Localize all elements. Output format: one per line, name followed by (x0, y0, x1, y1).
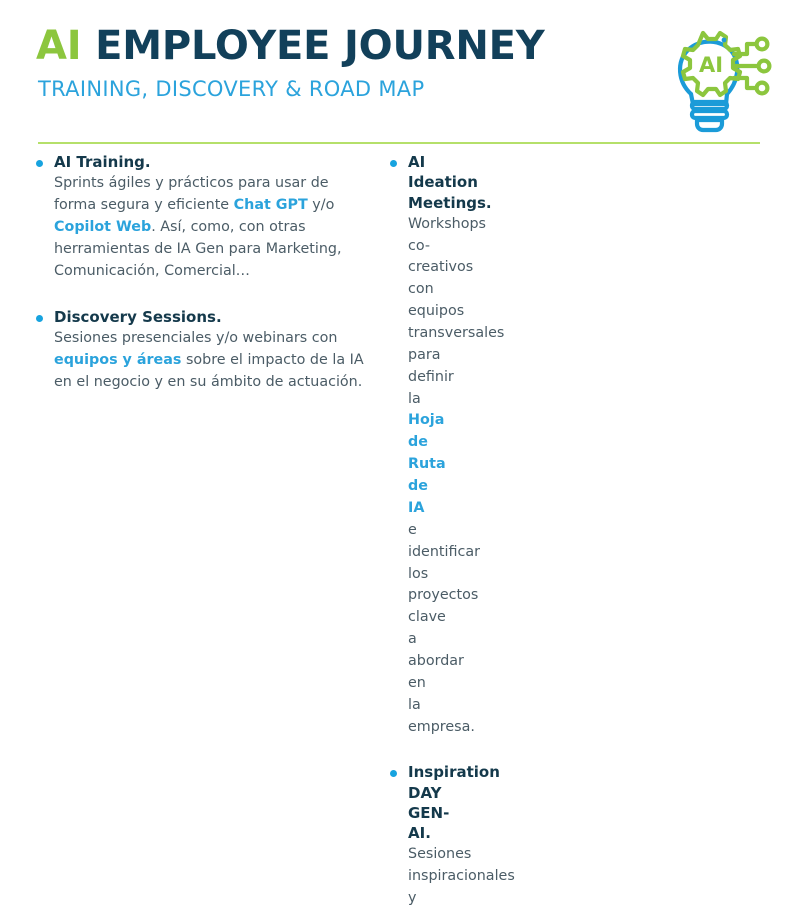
text-run: Workshops co-creativos con equipos trans… (408, 216, 504, 407)
column-right: AI Ideation Meetings. Workshops co-creat… (0, 152, 420, 912)
text-run: Sesiones inspiracionales y prácticas par… (408, 846, 515, 912)
title-rest: EMPLOYEE JOURNEY (81, 23, 544, 69)
bullet-dot-icon (390, 770, 397, 777)
bullet-dot-icon (390, 160, 397, 167)
header: AI EMPLOYEE JOURNEY TRAINING, DISCOVERY … (36, 26, 656, 101)
logo-ai-label: AI (699, 53, 723, 77)
list-item: Inspiration DAY GEN-AI. Sesiones inspira… (390, 762, 396, 912)
text-run: e identificar los proyectos clave a abor… (408, 522, 480, 735)
slide-root: AI EMPLOYEE JOURNEY TRAINING, DISCOVERY … (0, 0, 800, 456)
page-subtitle: TRAINING, DISCOVERY & ROAD MAP (38, 77, 656, 101)
list-item: AI Ideation Meetings. Workshops co-creat… (390, 152, 396, 738)
page-title: AI EMPLOYEE JOURNEY (36, 26, 656, 67)
content-columns: AI Training. Sprints ágiles y prácticos … (0, 152, 800, 912)
header-divider (38, 142, 760, 144)
ai-lightbulb-logo: AI (648, 16, 778, 134)
title-accent: AI (36, 23, 81, 69)
highlight-term: Hoja de Ruta de IA (408, 412, 446, 515)
